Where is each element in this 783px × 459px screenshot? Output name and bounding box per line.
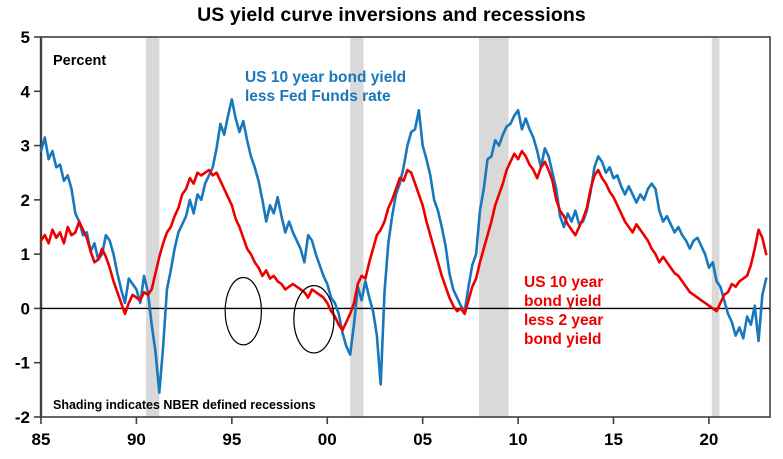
legend-red-line-2: bond yield bbox=[524, 293, 602, 310]
legend-blue-line-1: US 10 year bond yield bbox=[245, 69, 406, 86]
y-axis-title: Percent bbox=[53, 53, 106, 69]
legend-red-line-1: US 10 year bbox=[524, 274, 603, 291]
legend-red-series: US 10 year bond yield less 2 year bond y… bbox=[524, 274, 603, 348]
y-tick-label: 5 bbox=[21, 28, 30, 47]
recession-band bbox=[712, 37, 720, 417]
chart-plot-area: 543210-1-2 8590950005101520 Percent Shad… bbox=[0, 0, 783, 459]
inversion-circle-1995 bbox=[225, 277, 261, 344]
y-tick-label: -2 bbox=[15, 408, 30, 427]
y-tick-label: 0 bbox=[21, 299, 30, 318]
legend-red-line-4: bond yield bbox=[524, 331, 602, 348]
x-tick-label: 95 bbox=[222, 430, 241, 449]
x-axis-group: 8590950005101520 bbox=[32, 417, 719, 449]
x-tick-label: 85 bbox=[32, 430, 51, 449]
chart-container: US yield curve inversions and recessions… bbox=[0, 0, 783, 459]
recession-shading-group bbox=[146, 37, 719, 417]
legend-blue-line-2: less Fed Funds rate bbox=[245, 88, 391, 105]
y-tick-label: 3 bbox=[21, 137, 30, 156]
x-tick-label: 90 bbox=[127, 430, 146, 449]
legend-red-line-3: less 2 year bbox=[524, 312, 603, 329]
inversion-circle-1998 bbox=[294, 286, 334, 353]
x-tick-label: 10 bbox=[509, 430, 528, 449]
x-tick-label: 05 bbox=[413, 430, 432, 449]
y-tick-label: 2 bbox=[21, 191, 30, 210]
y-axis-group: 543210-1-2 bbox=[15, 28, 41, 427]
x-tick-label: 20 bbox=[699, 430, 718, 449]
recession-band bbox=[479, 37, 509, 417]
annotation-group bbox=[225, 277, 334, 352]
y-tick-label: 1 bbox=[21, 245, 30, 264]
y-tick-label: 4 bbox=[21, 82, 31, 101]
y-tick-label: -1 bbox=[15, 354, 30, 373]
x-tick-label: 15 bbox=[604, 430, 623, 449]
chart-footnote: Shading indicates NBER defined recession… bbox=[53, 398, 316, 412]
x-tick-label: 00 bbox=[318, 430, 337, 449]
legend-blue-series: US 10 year bond yield less Fed Funds rat… bbox=[245, 69, 406, 105]
